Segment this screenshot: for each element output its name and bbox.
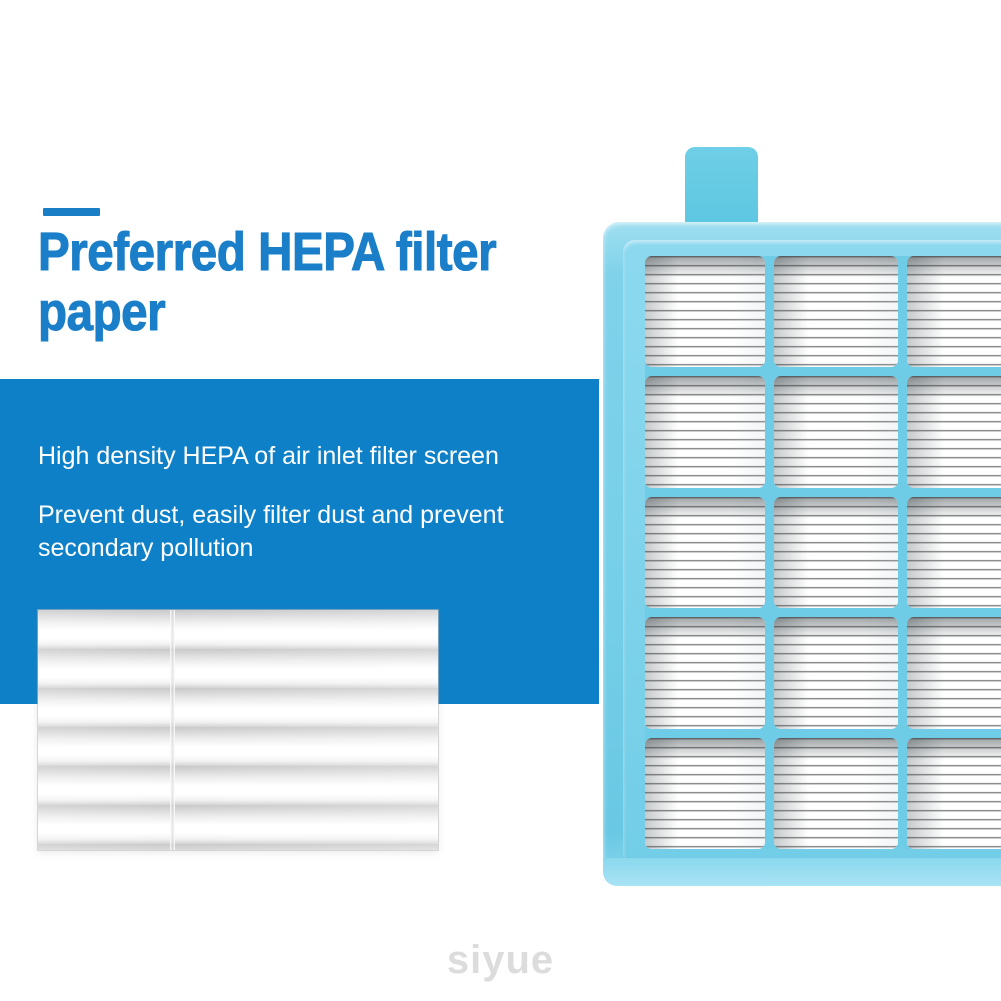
filter-cell [907,617,1001,728]
filter-cell [645,738,765,849]
filter-cell [774,617,898,728]
filter-cell [645,497,765,608]
filter-cell [907,497,1001,608]
filter-cell-grid [645,256,1001,849]
accent-dash-icon [43,208,100,216]
filter-bottom-edge [603,858,1001,886]
filter-cell [645,617,765,728]
filter-cell [907,376,1001,487]
pleat-top-shadow [774,256,898,278]
filter-cell [774,738,898,849]
pleat-top-shadow [907,256,1001,278]
pleat-top-shadow [645,738,765,760]
paper-sheen-overlay [38,610,438,850]
filter-cell [645,256,765,367]
pleat-top-shadow [907,497,1001,519]
pleat-top-shadow [645,376,765,398]
filter-cell [774,256,898,367]
feature-band-text: High density HEPA of air inlet filter sc… [38,440,578,565]
filter-pull-tab [685,147,758,229]
pleat-top-shadow [645,617,765,639]
pleat-top-shadow [907,376,1001,398]
feature-line-2: Prevent dust, easily filter dust and pre… [38,499,578,532]
product-marketing-image: Preferred HEPA filter paper High density… [0,0,1001,1001]
filter-cell [774,497,898,608]
filter-paper-swatch [38,610,438,850]
pleat-top-shadow [774,738,898,760]
pleat-top-shadow [907,617,1001,639]
feature-line-3: secondary pollution [38,532,578,565]
headline-line-1: Preferred HEPA filter [38,222,513,282]
pleat-top-shadow [774,497,898,519]
pleat-top-shadow [907,738,1001,760]
filter-cell [774,376,898,487]
page-title: Preferred HEPA filter paper [38,222,513,342]
filter-cell [907,256,1001,367]
pleat-top-shadow [645,256,765,278]
watermark: siyue [0,938,1001,983]
pleat-top-shadow [645,497,765,519]
filter-cell [907,738,1001,849]
headline-line-2: paper [38,282,513,342]
pleat-top-shadow [774,617,898,639]
filter-cell [645,376,765,487]
pleat-top-shadow [774,376,898,398]
feature-line-1: High density HEPA of air inlet filter sc… [38,440,578,473]
